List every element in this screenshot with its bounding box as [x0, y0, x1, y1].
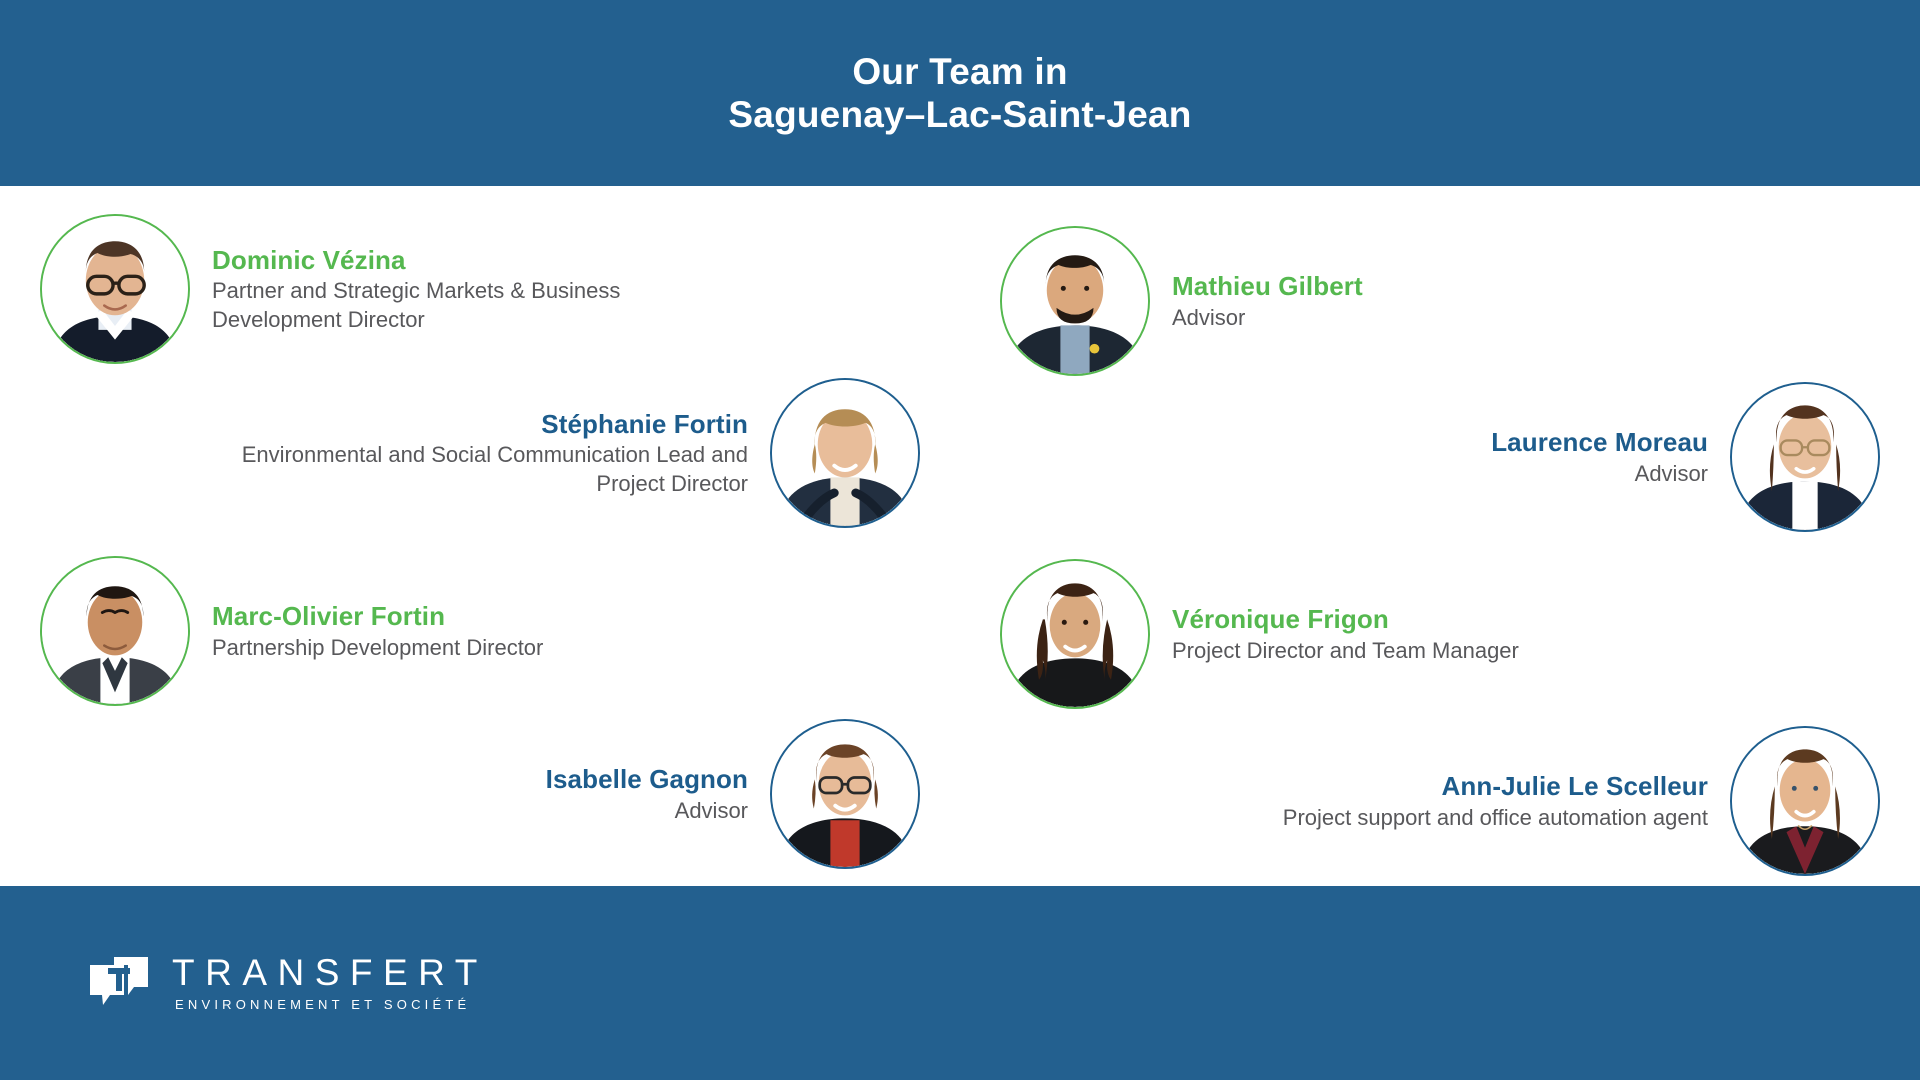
member-info: Stéphanie Fortin Environmental and Socia… — [188, 408, 748, 499]
avatar — [770, 378, 920, 528]
member-name: Mathieu Gilbert — [1172, 270, 1363, 303]
team-member-card[interactable]: Mathieu Gilbert Advisor — [1000, 226, 1920, 376]
member-role: Project Director and Team Manager — [1172, 636, 1519, 665]
member-name: Marc-Olivier Fortin — [212, 600, 445, 633]
member-name: Ann-Julie Le Scelleur — [1441, 770, 1708, 803]
team-slide: Our Team in Saguenay–Lac-Saint-Jean — [0, 0, 1920, 1080]
member-name: Stéphanie Fortin — [541, 408, 748, 441]
member-role: Partnership Development Director — [212, 633, 543, 662]
member-info: Mathieu Gilbert Advisor — [1172, 270, 1363, 332]
portrait-photo — [1002, 561, 1148, 707]
logo-wordmark: TRANSFERT — [172, 953, 488, 993]
team-member-card[interactable]: Stéphanie Fortin Environmental and Socia… — [0, 378, 920, 528]
member-info: Isabelle Gagnon Advisor — [546, 763, 748, 825]
member-info: Marc-Olivier Fortin Partnership Developm… — [212, 600, 543, 662]
member-info: Laurence Moreau Advisor — [1491, 426, 1708, 488]
team-member-card[interactable]: Marc-Olivier Fortin Partnership Developm… — [40, 556, 960, 706]
portrait-photo — [42, 558, 188, 704]
member-name: Dominic Vézina — [212, 244, 406, 277]
portrait-photo — [1002, 228, 1148, 374]
page-title-line-2: Saguenay–Lac-Saint-Jean — [728, 93, 1191, 136]
member-role: Advisor — [675, 796, 748, 825]
avatar — [1730, 382, 1880, 532]
team-member-card[interactable]: Dominic Vézina Partner and Strategic Mar… — [40, 214, 960, 364]
member-info: Ann-Julie Le Scelleur Project support an… — [1283, 770, 1708, 832]
slide-footer: TRANSFERT ENVIRONNEMENT ET SOCIÉTÉ — [0, 886, 1920, 1080]
avatar — [770, 719, 920, 869]
member-role: Project support and office automation ag… — [1283, 803, 1708, 832]
team-member-card[interactable]: Laurence Moreau Advisor — [960, 382, 1880, 532]
avatar — [40, 214, 190, 364]
slide-header: Our Team in Saguenay–Lac-Saint-Jean — [0, 0, 1920, 186]
portrait-photo — [42, 216, 188, 362]
member-role: Partner and Strategic Markets & Business… — [212, 276, 732, 334]
team-column-left: Dominic Vézina Partner and Strategic Mar… — [0, 186, 960, 886]
team-column-right: Mathieu Gilbert Advisor — [960, 186, 1920, 886]
page-title: Our Team in Saguenay–Lac-Saint-Jean — [728, 50, 1191, 137]
page-title-line-1: Our Team in — [728, 50, 1191, 93]
avatar — [1730, 726, 1880, 876]
team-member-card[interactable]: Ann-Julie Le Scelleur Project support an… — [960, 726, 1880, 876]
portrait-photo — [772, 721, 918, 867]
avatar — [40, 556, 190, 706]
member-name: Isabelle Gagnon — [546, 763, 748, 796]
team-grid: Dominic Vézina Partner and Strategic Mar… — [0, 186, 1920, 886]
logo-tagline: ENVIRONNEMENT ET SOCIÉTÉ — [175, 997, 470, 1013]
speech-bubbles-t-icon — [88, 955, 150, 1011]
avatar — [1000, 559, 1150, 709]
member-name: Véronique Frigon — [1172, 603, 1389, 636]
portrait-photo — [1732, 728, 1878, 874]
avatar — [1000, 226, 1150, 376]
member-info: Dominic Vézina Partner and Strategic Mar… — [212, 244, 732, 335]
logo-text: TRANSFERT ENVIRONNEMENT ET SOCIÉTÉ — [172, 953, 488, 1013]
member-info: Véronique Frigon Project Director and Te… — [1172, 603, 1519, 665]
portrait-photo — [1732, 384, 1878, 530]
member-role: Advisor — [1635, 459, 1708, 488]
member-name: Laurence Moreau — [1491, 426, 1708, 459]
member-role: Advisor — [1172, 303, 1245, 332]
portrait-photo — [772, 380, 918, 526]
team-member-card[interactable]: Isabelle Gagnon Advisor — [0, 719, 920, 869]
brand-logo[interactable]: TRANSFERT ENVIRONNEMENT ET SOCIÉTÉ — [88, 953, 488, 1013]
member-role: Environmental and Social Communication L… — [188, 440, 748, 498]
team-member-card[interactable]: Véronique Frigon Project Director and Te… — [1000, 559, 1920, 709]
